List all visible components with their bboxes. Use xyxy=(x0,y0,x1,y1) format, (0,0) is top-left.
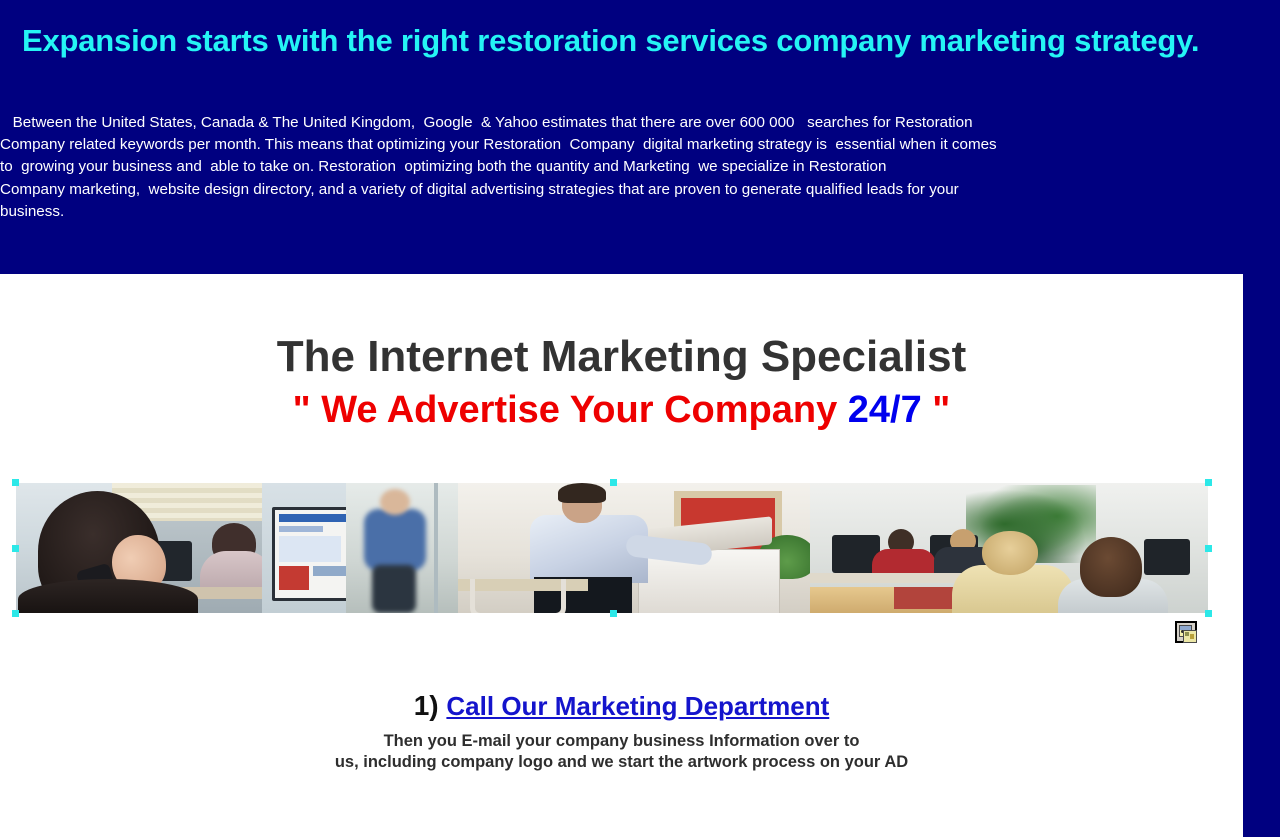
hero-paragraph-line: to growing your business and able to tak… xyxy=(0,156,1060,178)
subtitle-blue-text: 24/7 xyxy=(848,389,922,431)
call-marketing-department-link[interactable]: Call Our Marketing Department xyxy=(446,691,829,721)
document-panel: The Internet Marketing Specialist " We A… xyxy=(0,274,1243,837)
hero-paragraph-line: Company related keywords per month. This… xyxy=(0,134,1060,156)
selection-handle-bottom-left[interactable] xyxy=(12,610,19,617)
subtitle-red-text: We Advertise Your Company xyxy=(321,389,837,431)
cta-step-number: 1) xyxy=(414,690,439,721)
selection-handle-bottom-right[interactable] xyxy=(1205,610,1212,617)
subtitle-open-quote: " xyxy=(293,389,311,431)
hero-paragraph: Between the United States, Canada & The … xyxy=(0,112,1060,223)
photo-panel-open-office xyxy=(810,483,1208,613)
selection-handle-top-right[interactable] xyxy=(1205,479,1212,486)
banner-image-selection[interactable] xyxy=(16,483,1208,613)
hero-paragraph-line: Between the United States, Canada & The … xyxy=(0,112,1060,134)
selection-handle-bottom-center[interactable] xyxy=(610,610,617,617)
subtitle-close-quote: " xyxy=(932,389,950,431)
photo-panel-monitor xyxy=(262,483,358,613)
document-title: The Internet Marketing Specialist xyxy=(0,332,1243,382)
cta-subtext-line-2: us, including company logo and we start … xyxy=(0,752,1243,773)
right-margin-strip xyxy=(1243,274,1280,837)
photo-panel-copier xyxy=(458,483,818,613)
picture-icon[interactable] xyxy=(1175,621,1197,643)
page-headline: Expansion starts with the right restorat… xyxy=(22,22,1272,60)
cta-subtext-line-1: Then you E-mail your company business In… xyxy=(0,731,1243,752)
office-collage-image[interactable] xyxy=(16,483,1208,613)
cta-subtext: Then you E-mail your company business In… xyxy=(0,731,1243,773)
cta-step-line: 1) Call Our Marketing Department xyxy=(0,689,1243,723)
selection-handle-top-center[interactable] xyxy=(610,479,617,486)
document-subtitle: " We Advertise Your Company 24/7 " xyxy=(0,387,1243,433)
hero-paragraph-line: Company marketing, website design direct… xyxy=(0,179,1060,201)
hero-band: Expansion starts with the right restorat… xyxy=(0,0,1280,274)
hero-paragraph-line: business. xyxy=(0,201,1060,223)
photo-panel-walking-person xyxy=(346,483,466,613)
selection-handle-middle-left[interactable] xyxy=(12,545,19,552)
selection-handle-top-left[interactable] xyxy=(12,479,19,486)
call-to-action-block: 1) Call Our Marketing Department Then yo… xyxy=(0,689,1243,773)
selection-handle-middle-right[interactable] xyxy=(1205,545,1212,552)
